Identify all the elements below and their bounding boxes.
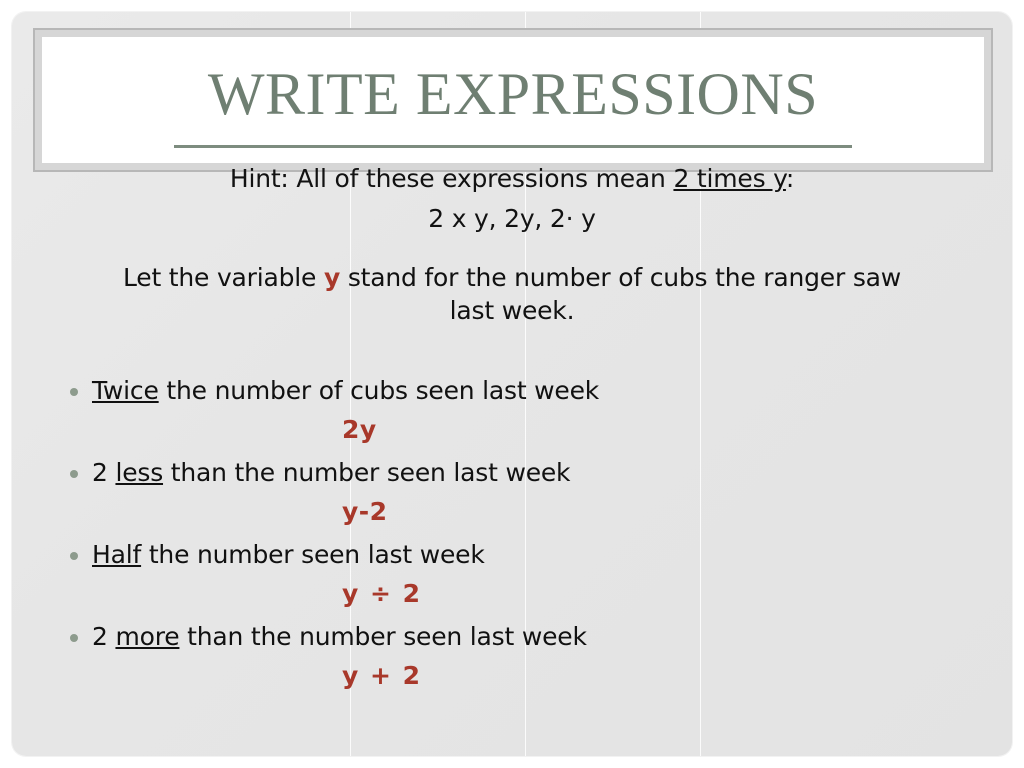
bullet-row: 2 more than the number seen last week bbox=[12, 617, 1012, 657]
bullet-suffix: the number of cubs seen last week bbox=[159, 376, 599, 405]
equivalent-forms-line: 2 x y, 2y, 2· y bbox=[12, 202, 1012, 235]
bullet-answer: 2y bbox=[12, 411, 1012, 449]
bullet-row: 2 less than the number seen last week bbox=[12, 453, 1012, 493]
slide-title-underline bbox=[174, 145, 852, 148]
hint-line: Hint: All of these expressions mean 2 ti… bbox=[12, 162, 1012, 195]
variable-statement-before: Let the variable bbox=[123, 263, 324, 292]
bullet-suffix: the number seen last week bbox=[141, 540, 485, 569]
bullet-emphasis: less bbox=[115, 458, 163, 487]
bullet-emphasis: Twice bbox=[92, 376, 159, 405]
bullet-text: Twice the number of cubs seen last week bbox=[92, 371, 1012, 411]
list-item: 2 less than the number seen last week y-… bbox=[12, 453, 1012, 531]
bullet-dot-icon bbox=[70, 388, 78, 396]
expression-list: Twice the number of cubs seen last week … bbox=[12, 371, 1012, 695]
variable-symbol: y bbox=[324, 263, 340, 292]
bullet-answer: y + 2 bbox=[12, 657, 1012, 695]
bullet-answer: y ÷ 2 bbox=[12, 575, 1012, 613]
presentation-slide: Write Expressions Hint: All of these exp… bbox=[12, 12, 1012, 756]
bullet-emphasis: more bbox=[115, 622, 179, 651]
bullet-emphasis: Half bbox=[92, 540, 141, 569]
bullet-text: 2 more than the number seen last week bbox=[92, 617, 1012, 657]
slide-title-plate-inner: Write Expressions bbox=[42, 37, 984, 163]
bullet-suffix: than the number seen last week bbox=[163, 458, 570, 487]
slide-title: Write Expressions bbox=[42, 64, 984, 124]
slide-body: Hint: All of these expressions mean 2 ti… bbox=[12, 160, 1012, 711]
bullet-answer: y-2 bbox=[12, 493, 1012, 531]
bullet-dot-icon bbox=[70, 470, 78, 478]
bullet-row: Twice the number of cubs seen last week bbox=[12, 371, 1012, 411]
bullet-dot-icon bbox=[70, 552, 78, 560]
hint-suffix: : bbox=[786, 164, 794, 193]
hint-prefix: Hint: All of these expressions mean bbox=[230, 164, 674, 193]
bullet-text: Half the number seen last week bbox=[92, 535, 1012, 575]
variable-statement: Let the variable y stand for the number … bbox=[12, 261, 1012, 327]
bullet-suffix: than the number seen last week bbox=[179, 622, 586, 651]
list-item: Twice the number of cubs seen last week … bbox=[12, 371, 1012, 449]
bullet-prefix: 2 bbox=[92, 458, 115, 487]
list-item: 2 more than the number seen last week y … bbox=[12, 617, 1012, 695]
bullet-dot-icon bbox=[70, 634, 78, 642]
bullet-row: Half the number seen last week bbox=[12, 535, 1012, 575]
list-item: Half the number seen last week y ÷ 2 bbox=[12, 535, 1012, 613]
hint-emphasis: 2 times y bbox=[673, 164, 785, 193]
slide-title-plate: Write Expressions bbox=[33, 28, 993, 172]
bullet-text: 2 less than the number seen last week bbox=[92, 453, 1012, 493]
variable-statement-after: stand for the number of cubs the ranger … bbox=[340, 263, 901, 325]
bullet-prefix: 2 bbox=[92, 622, 115, 651]
